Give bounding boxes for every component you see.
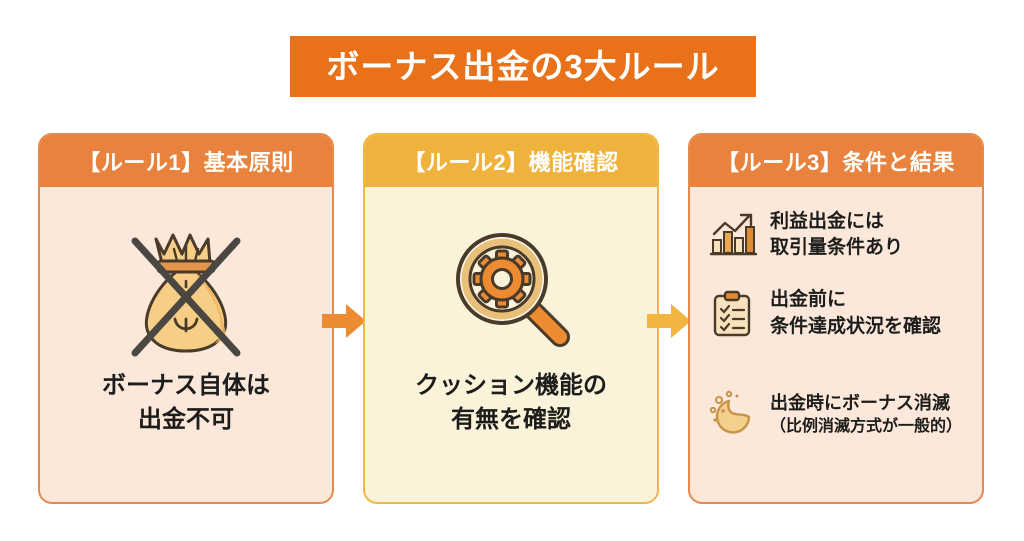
rule-card-1-body: ボーナス自体は 出金不可 <box>40 187 332 502</box>
list-item-label: 出金時にボーナス消滅 （比例消滅方式が一般的） <box>770 366 962 463</box>
rule-card-2-caption: クッション機能の 有無を確認 <box>415 369 607 437</box>
list-item: 出金時にボーナス消滅 （比例消滅方式が一般的） <box>706 366 968 463</box>
rule-card-3-body: 利益出金には 取引量条件あり <box>690 187 982 502</box>
arrow-card2-to-card3 <box>647 303 691 339</box>
rule-card-3: 【ルール3】条件と結果 利益出金には 取引量条件あり <box>688 133 984 504</box>
money-bag-crossed-out-icon <box>111 213 261 363</box>
magnifier-gear-icon <box>436 213 586 363</box>
bar-chart-growth-icon <box>706 209 758 261</box>
rule-card-3-header: 【ルール3】条件と結果 <box>690 135 982 187</box>
rule-card-2: 【ルール2】機能確認 <box>363 133 659 504</box>
rule-card-1-caption: ボーナス自体は 出金不可 <box>102 369 270 437</box>
rule-card-1-header: 【ルール1】基本原則 <box>40 135 332 187</box>
rule-card-2-header: 【ルール2】機能確認 <box>365 135 657 187</box>
arrow-card1-to-card2 <box>322 303 366 339</box>
rule-card-3-bullet-list: 利益出金には 取引量条件あり <box>690 187 982 462</box>
list-item: 出金前に 条件達成状況を確認 <box>706 287 968 339</box>
clipboard-checklist-icon <box>706 288 758 340</box>
rule-card-1: 【ルール1】基本原則 ボーナス自体は 出金不可 <box>38 133 334 504</box>
list-item-label: 出金前に 条件達成状況を確認 <box>770 287 941 339</box>
list-item: 利益出金には 取引量条件あり <box>706 209 968 261</box>
dissolving-coin-icon <box>706 388 758 440</box>
list-item-label: 利益出金には 取引量条件あり <box>770 209 903 261</box>
rule-card-2-body: クッション機能の 有無を確認 <box>365 187 657 502</box>
page-title-banner: ボーナス出金の3大ルール <box>290 36 756 97</box>
list-item-label-line1: 出金時にボーナス消滅 <box>770 393 950 413</box>
list-item-label-line2: （比例消滅方式が一般的） <box>770 416 962 438</box>
page-title: ボーナス出金の3大ルール <box>326 50 719 83</box>
